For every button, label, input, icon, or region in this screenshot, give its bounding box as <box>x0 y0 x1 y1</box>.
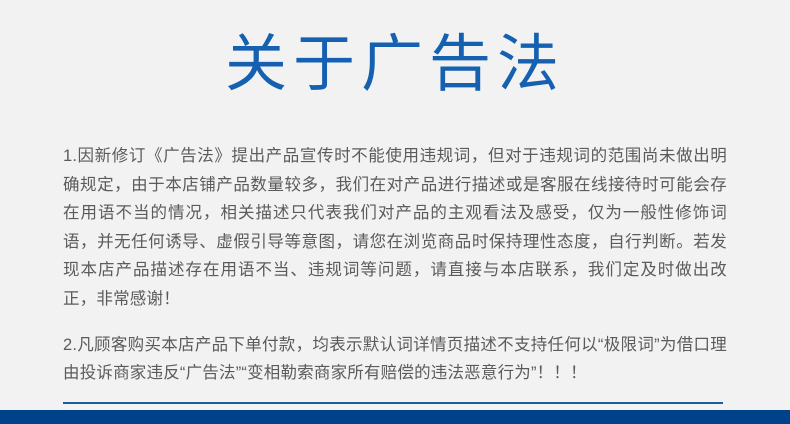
notice-paragraph-2: 2.凡顾客购买本店产品下单付款，均表示默认词详情页描述不支持任何以“极限词”为借… <box>63 331 727 388</box>
notice-body: 1.因新修订《广告法》提出产品宣传时不能使用违规词，但对于违规词的范围尚未做出明… <box>63 142 727 388</box>
page-title: 关于广告法 <box>0 26 790 104</box>
horizontal-divider <box>63 402 723 404</box>
notice-paragraph-1: 1.因新修订《广告法》提出产品宣传时不能使用违规词，但对于违规词的范围尚未做出明… <box>63 142 727 314</box>
advertising-law-notice-page: 关于广告法 1.因新修订《广告法》提出产品宣传时不能使用违规词，但对于违规词的范… <box>0 0 790 424</box>
bottom-accent-band <box>0 410 790 424</box>
